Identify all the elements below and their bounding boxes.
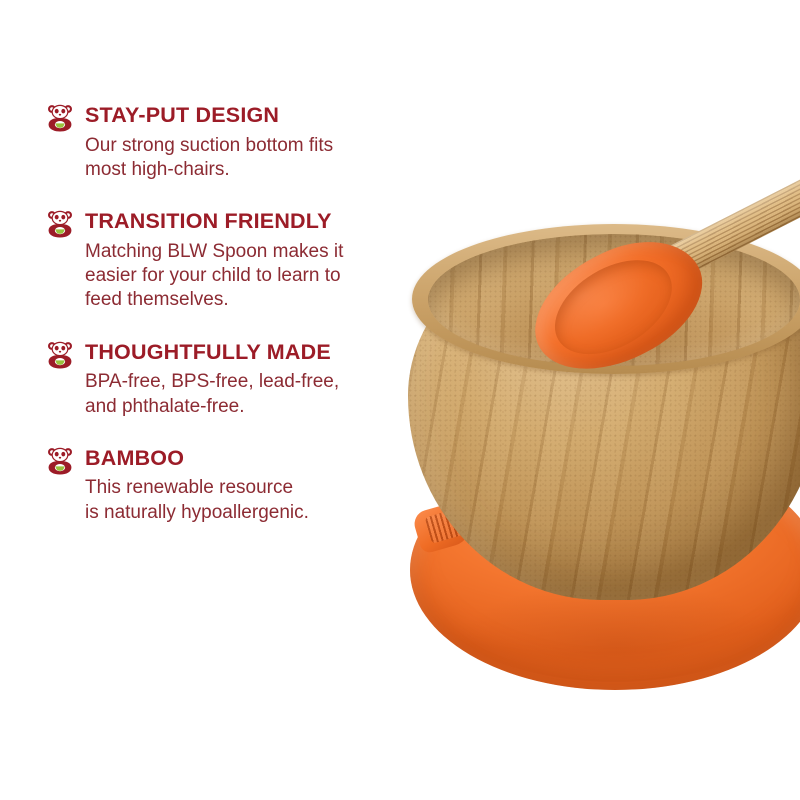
panda-icon bbox=[45, 209, 75, 239]
feature-body: Matching BLW Spoon makes it easier for y… bbox=[85, 240, 405, 313]
feature-item-transition-friendly: TRANSITION FRIENDLY Matching BLW Spoon m… bbox=[45, 210, 405, 313]
feature-body: This renewable resource is naturally hyp… bbox=[85, 476, 405, 525]
feature-item-stay-put-design: STAY-PUT DESIGN Our strong suction botto… bbox=[45, 104, 405, 182]
feature-body: Our strong suction bottom fits most high… bbox=[85, 134, 405, 183]
feature-heading: THOUGHTFULLY MADE bbox=[85, 341, 405, 364]
panda-icon bbox=[45, 103, 75, 133]
panda-icon bbox=[45, 340, 75, 370]
feature-body: BPA-free, BPS-free, lead-free, and phtha… bbox=[85, 370, 405, 419]
feature-heading: BAMBOO bbox=[85, 447, 405, 470]
product-photo bbox=[380, 150, 800, 680]
feature-list: STAY-PUT DESIGN Our strong suction botto… bbox=[45, 104, 405, 553]
panda-icon bbox=[45, 446, 75, 476]
feature-heading: STAY-PUT DESIGN bbox=[85, 104, 405, 127]
feature-item-bamboo: BAMBOO This renewable resource is natura… bbox=[45, 447, 405, 525]
infographic-page: STAY-PUT DESIGN Our strong suction botto… bbox=[0, 0, 800, 800]
feature-item-thoughtfully-made: THOUGHTFULLY MADE BPA-free, BPS-free, le… bbox=[45, 341, 405, 419]
feature-heading: TRANSITION FRIENDLY bbox=[85, 210, 405, 233]
